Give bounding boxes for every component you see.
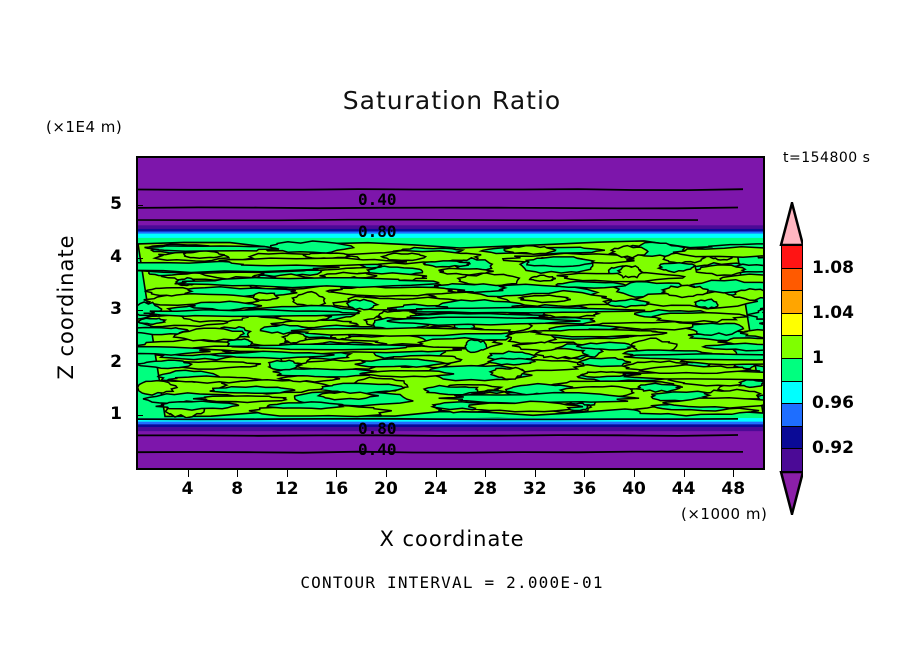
y-axis-tick-label: 4 bbox=[96, 247, 122, 267]
colorbar-band bbox=[781, 268, 803, 292]
colorbar-band bbox=[781, 403, 803, 427]
x-axis-tick-label: 24 bbox=[416, 479, 456, 499]
x-axis-tick-label: 32 bbox=[515, 479, 555, 499]
colorbar-band bbox=[781, 358, 803, 382]
colorbar-band bbox=[781, 290, 803, 314]
x-axis-tick bbox=[535, 470, 536, 477]
x-axis-tick-label: 16 bbox=[316, 479, 356, 499]
time-annotation: t=154800 s bbox=[783, 150, 870, 166]
y-axis-tick-label: 5 bbox=[96, 194, 122, 214]
colorbar-tick-label: 1 bbox=[812, 348, 824, 368]
x-axis-tick bbox=[287, 470, 288, 477]
x-axis-title: X coordinate bbox=[0, 527, 904, 551]
x-axis-tick bbox=[733, 470, 734, 477]
colorbar bbox=[781, 245, 803, 471]
x-axis-unit-label: (×1000 m) bbox=[681, 505, 767, 523]
y-axis-tick bbox=[136, 258, 143, 259]
x-axis-tick bbox=[684, 470, 685, 477]
y-axis-tick bbox=[136, 310, 143, 311]
contour-line-label: 0.80 bbox=[358, 419, 397, 438]
contour-line-label: 0.40 bbox=[358, 440, 397, 459]
y-axis-tick bbox=[136, 415, 143, 416]
colorbar-band bbox=[781, 381, 803, 405]
contour-line-label: 0.40 bbox=[358, 190, 397, 209]
y-axis-tick-label: 3 bbox=[96, 299, 122, 319]
colorbar-band bbox=[781, 313, 803, 337]
x-axis-tick bbox=[436, 470, 437, 477]
x-axis-tick bbox=[485, 470, 486, 477]
x-axis-tick-label: 48 bbox=[713, 479, 753, 499]
x-axis-tick-label: 8 bbox=[217, 479, 257, 499]
x-axis-tick bbox=[336, 470, 337, 477]
y-axis-tick-label: 2 bbox=[96, 352, 122, 372]
colorbar-band bbox=[781, 426, 803, 450]
colorbar-band bbox=[781, 335, 803, 359]
x-axis-tick-label: 20 bbox=[366, 479, 406, 499]
x-axis-tick-label: 28 bbox=[465, 479, 505, 499]
colorbar-over-cap bbox=[779, 202, 803, 246]
x-axis-tick bbox=[237, 470, 238, 477]
y-axis-tick bbox=[136, 363, 143, 364]
colorbar-under-cap bbox=[779, 471, 803, 515]
contour-plot-area bbox=[136, 156, 765, 470]
x-axis-tick bbox=[584, 470, 585, 477]
x-axis-tick-label: 12 bbox=[267, 479, 307, 499]
contour-line-label: 0.80 bbox=[358, 222, 397, 241]
x-axis-tick-label: 36 bbox=[564, 479, 604, 499]
colorbar-tick-label: 1.04 bbox=[812, 303, 854, 323]
colorbar-band bbox=[781, 448, 803, 472]
y-axis-unit-label: (×1E4 m) bbox=[46, 118, 122, 136]
y-axis-title: Z coordinate bbox=[54, 207, 78, 407]
contour-field bbox=[138, 158, 763, 468]
colorbar-tick-label: 1.08 bbox=[812, 258, 854, 278]
colorbar-tick-label: 0.96 bbox=[812, 393, 854, 413]
colorbar-band bbox=[781, 245, 803, 269]
colorbar-tick-label: 0.92 bbox=[812, 438, 854, 458]
y-axis-tick-label: 1 bbox=[96, 404, 122, 424]
x-axis-tick bbox=[634, 470, 635, 477]
x-axis-tick-label: 4 bbox=[168, 479, 208, 499]
page-title: Saturation Ratio bbox=[0, 86, 904, 115]
x-axis-tick bbox=[188, 470, 189, 477]
x-axis-tick bbox=[386, 470, 387, 477]
x-axis-tick-label: 44 bbox=[664, 479, 704, 499]
x-axis-tick-label: 40 bbox=[614, 479, 654, 499]
contour-interval-caption: CONTOUR INTERVAL = 2.000E-01 bbox=[0, 573, 904, 592]
y-axis-tick bbox=[136, 205, 143, 206]
